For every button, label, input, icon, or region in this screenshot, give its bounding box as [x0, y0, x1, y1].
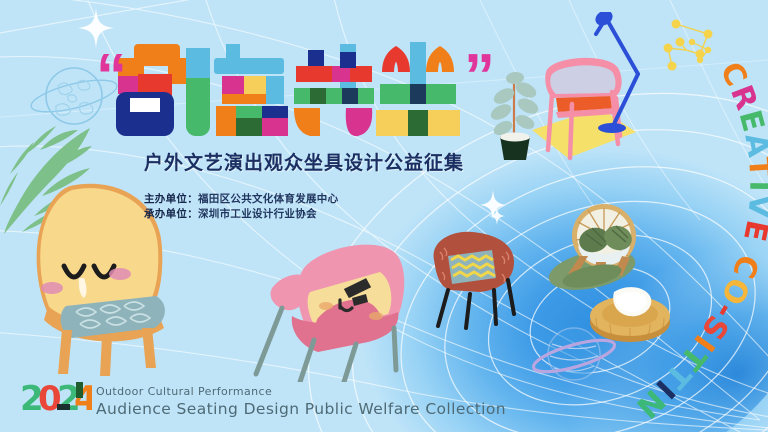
- poster-canvas: “ ”: [0, 0, 768, 432]
- curved-text-creative-co-sitting: CREATIVE CO-SITTING: [0, 0, 768, 432]
- svg-text:CREATIVE CO-SITTING: CREATIVE CO-SITTING: [0, 0, 768, 426]
